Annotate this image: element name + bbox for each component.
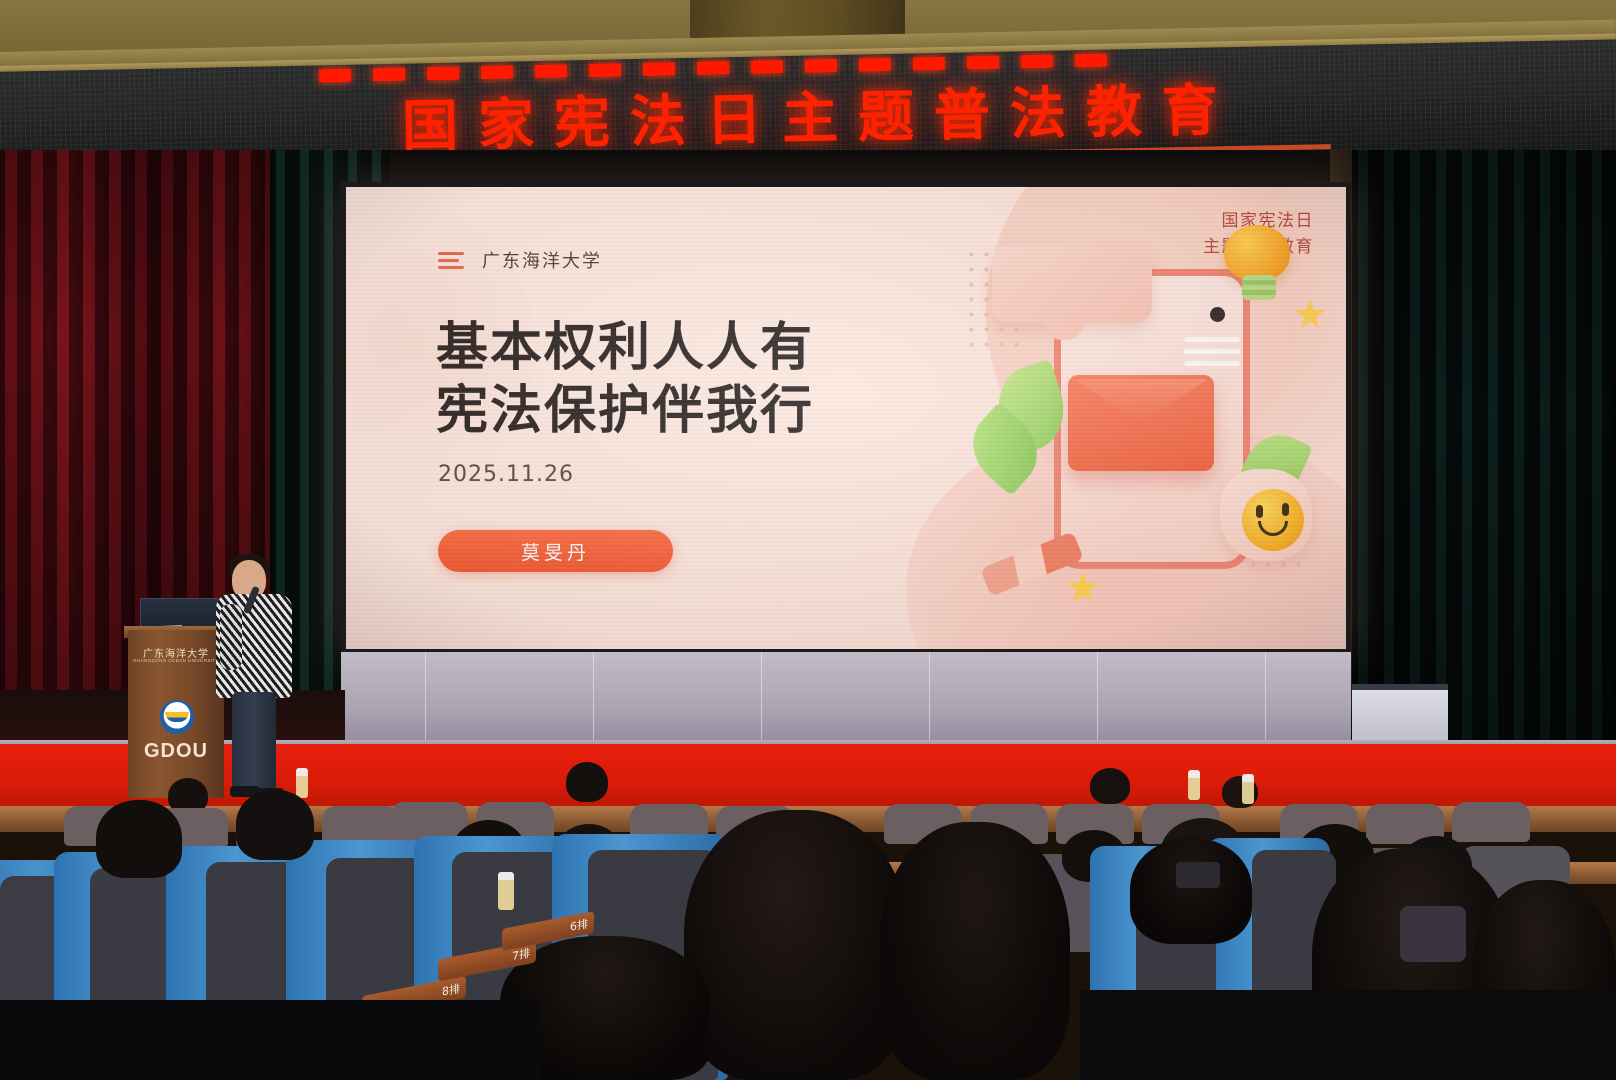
hamburger-menu-icon[interactable] — [438, 252, 464, 269]
light-bulb-base-icon — [1242, 275, 1276, 300]
seat-row-label: 8排 — [442, 980, 460, 999]
slide-organization-label: 广东海洋大学 — [482, 247, 602, 273]
smiley-eye-icon — [1282, 503, 1289, 516]
pencil-icon — [980, 531, 1084, 596]
slide-illustration — [958, 217, 1318, 607]
podium-university-name-en: GUANGDONG OCEAN UNIVERSITY — [128, 658, 224, 663]
presentation-slide: 广东海洋大学 国家宪法日 主题普法教育 基本权利人人有 宪法保护伴我行 2025… — [346, 187, 1346, 649]
audience-head — [236, 790, 314, 860]
audience-head — [1090, 768, 1130, 804]
water-bottle — [1188, 770, 1200, 800]
text-lines-icon — [1184, 337, 1240, 373]
speaker-name-button[interactable]: 莫旻丹 — [438, 530, 673, 572]
foreground-shadow-right — [1080, 990, 1616, 1080]
audience-head — [96, 800, 182, 878]
slide-title-line-2: 宪法保护伴我行 — [436, 380, 814, 443]
presenter-arm — [220, 604, 242, 670]
audience-head — [566, 762, 608, 802]
auditorium-scene: 国家宪法日主题普法教育 广东海洋大学 国家宪法日 主题普法教育 基本权利人人有 — [0, 0, 1616, 1080]
projection-screen: 广东海洋大学 国家宪法日 主题普法教育 基本权利人人有 宪法保护伴我行 2025… — [341, 182, 1351, 654]
envelope-icon — [1068, 375, 1214, 471]
slide-title-line-1: 基本权利人人有 — [436, 317, 814, 380]
light-bulb-icon — [1224, 225, 1290, 281]
hair-clip-icon — [1400, 906, 1466, 962]
camera-dot-icon — [1210, 307, 1225, 322]
foreground-shadow-left — [0, 1000, 540, 1080]
stage-skirt — [341, 652, 1351, 748]
audience-head — [1130, 838, 1252, 944]
audience-head — [684, 810, 908, 1080]
slide-date: 2025.11.26 — [438, 462, 574, 487]
slide-title: 基本权利人人有 宪法保护伴我行 — [436, 317, 814, 444]
slide-brand: 广东海洋大学 — [438, 247, 602, 273]
smiley-face-icon — [1242, 489, 1304, 551]
water-bottle — [296, 768, 308, 798]
speech-bubble-icon — [992, 245, 1152, 323]
audience-head — [880, 822, 1070, 1080]
smiley-mouth-icon — [1258, 521, 1288, 536]
seat-row-label: 6排 — [570, 915, 588, 934]
hair-clip-icon — [1176, 862, 1220, 888]
water-bottle — [498, 872, 514, 910]
smiley-eye-icon — [1256, 505, 1263, 518]
star-icon — [1066, 571, 1100, 605]
